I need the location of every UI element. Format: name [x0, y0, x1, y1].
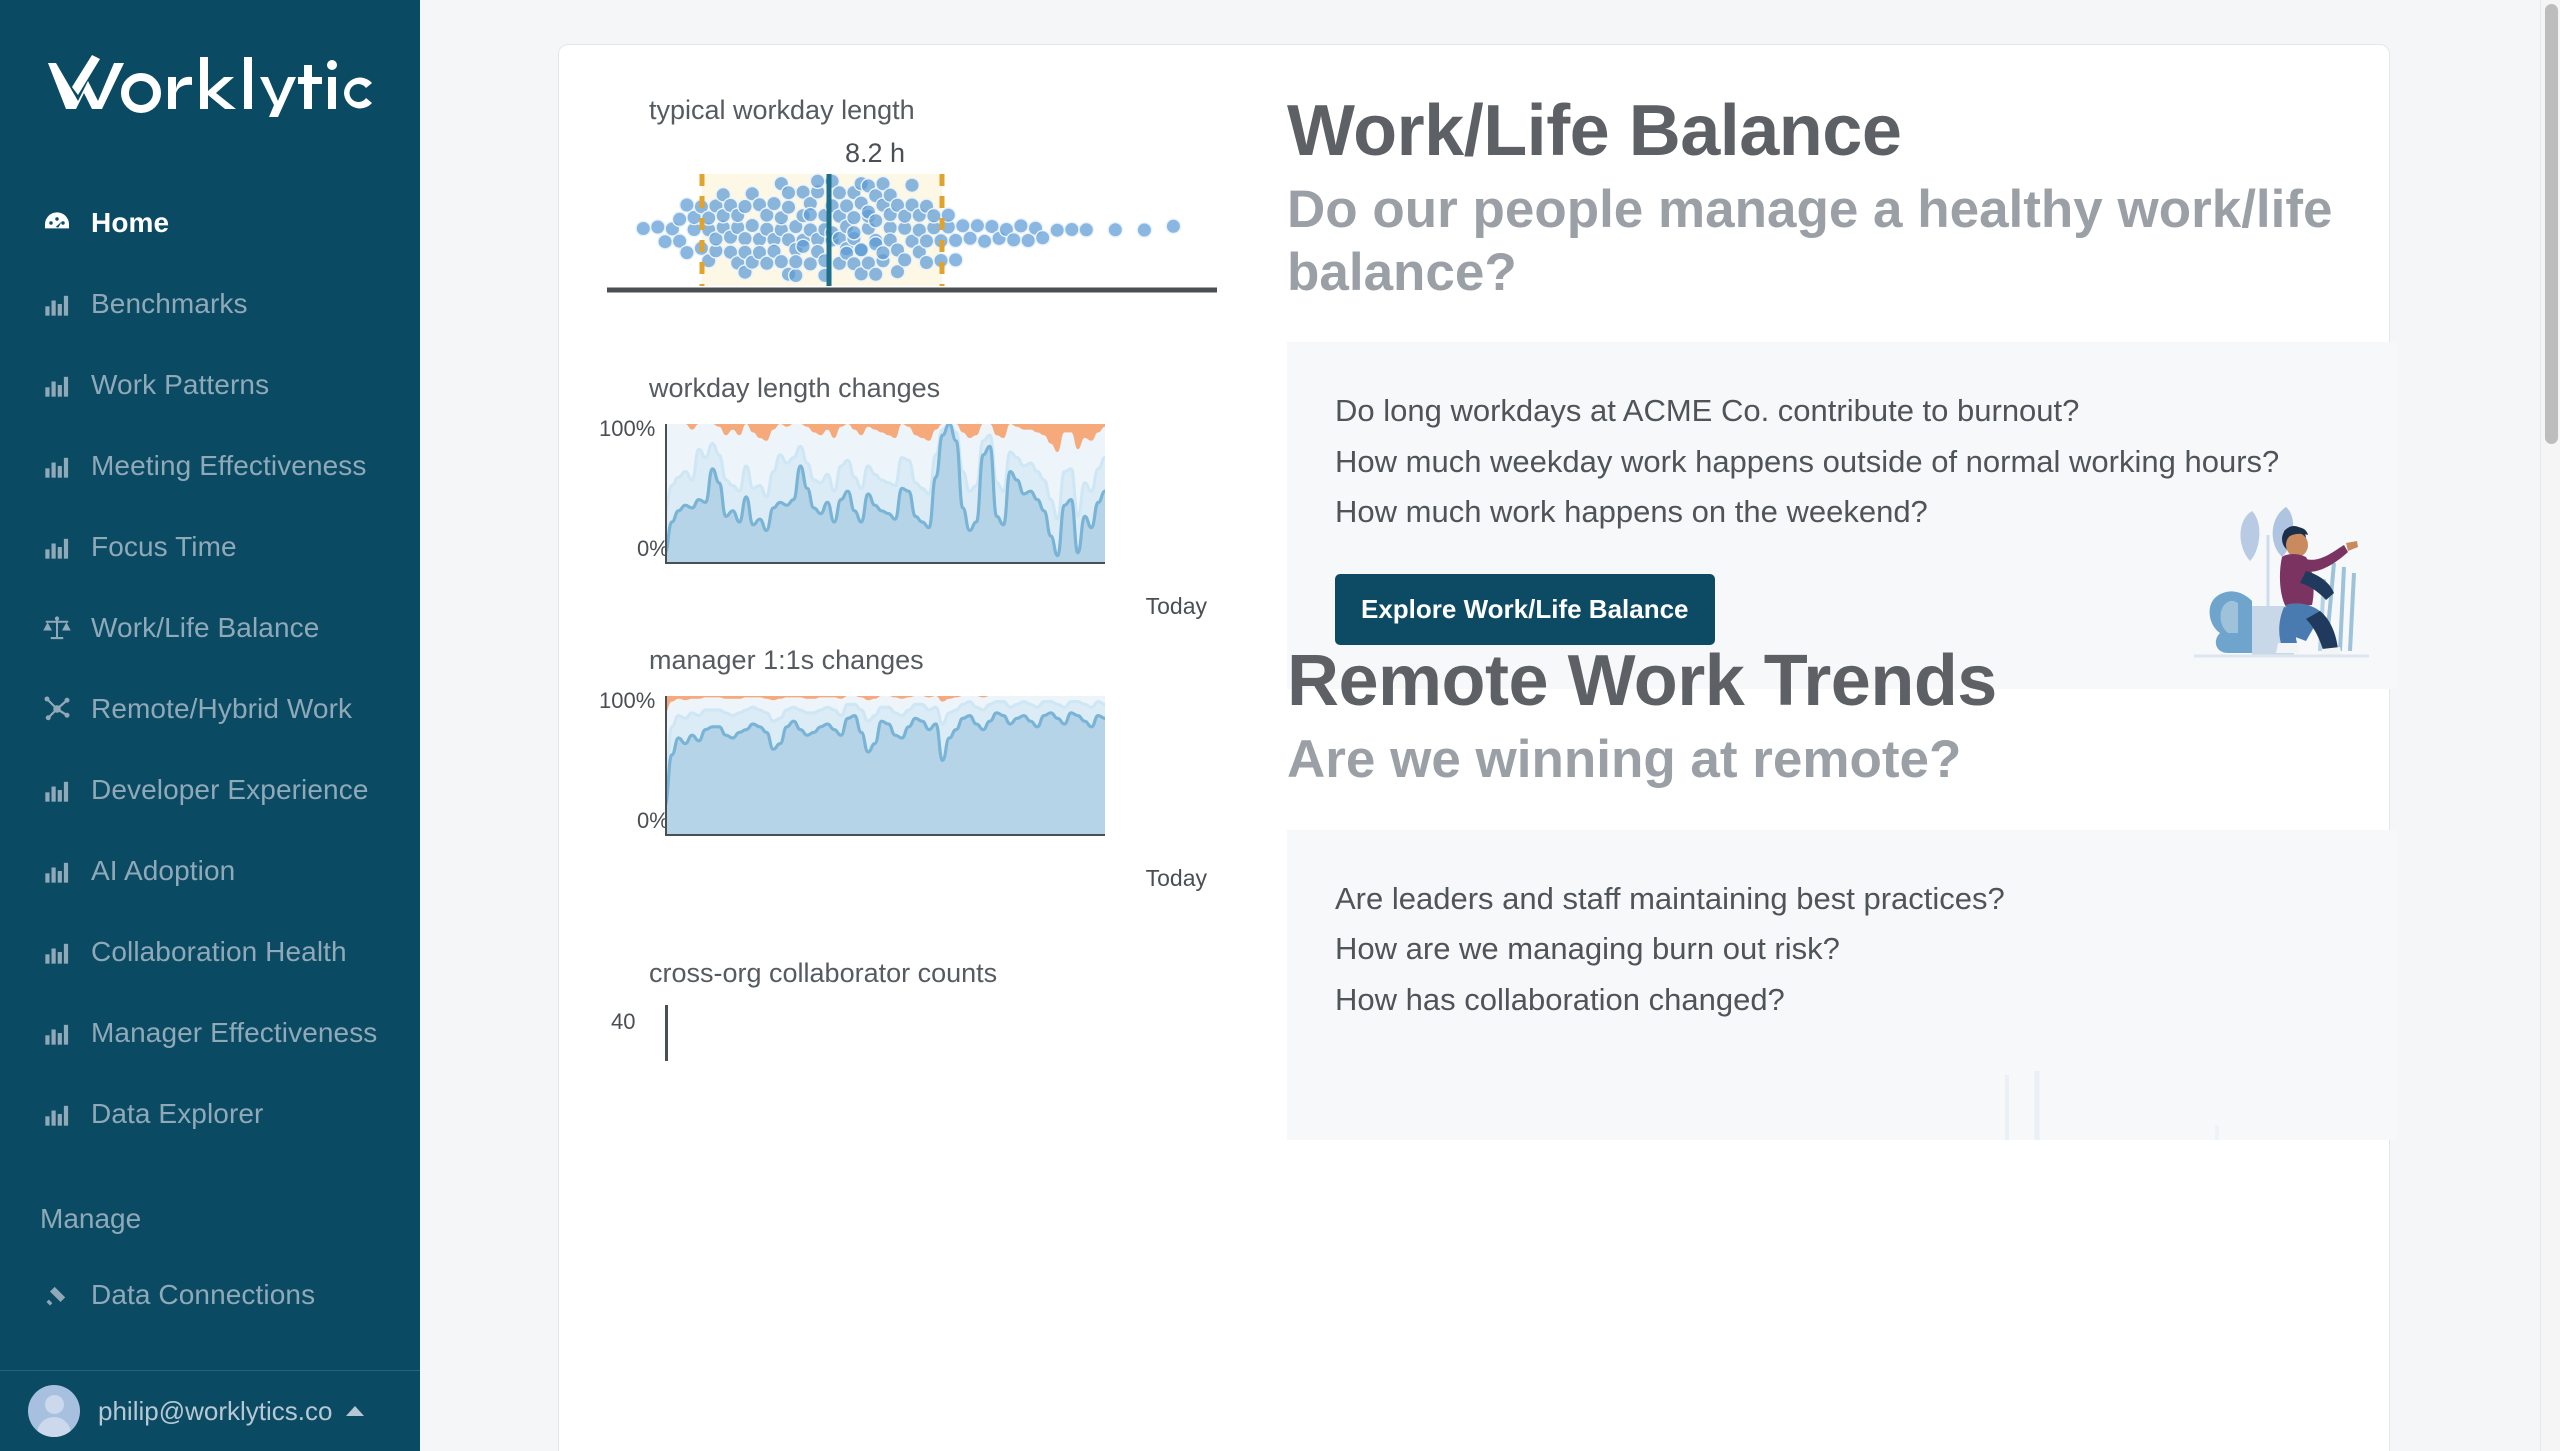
section-2-visuals: manager 1:1s changes 100% 0% Today cross… [559, 645, 1259, 1140]
sidebar-item-label: Work/Life Balance [91, 612, 319, 644]
sidebar-item-meeting-effectiveness[interactable]: Meeting Effectiveness [0, 425, 420, 506]
question-line: Do long workdays at ACME Co. contribute … [1335, 386, 2349, 437]
bar-chart-icon [40, 935, 74, 969]
sidebar-item-label: Data Explorer [91, 1098, 264, 1130]
bar-chart-icon [40, 530, 74, 564]
chart-typical-workday-length[interactable]: typical workday length 8.2 h [607, 95, 1259, 303]
chart-cross-org-collaborator-counts[interactable]: cross-org collaborator counts 40 [607, 958, 1259, 1061]
sidebar-item-label: Home [91, 207, 169, 239]
sidebar-item-ai-adoption[interactable]: AI Adoption [0, 830, 420, 911]
caret-up-icon [346, 1406, 364, 1416]
user-account-menu[interactable]: philip@worklytics.co [0, 1370, 420, 1451]
x-axis-right-label: Today [1146, 593, 1207, 620]
chart-title: workday length changes [649, 373, 1259, 404]
scales-balance-icon [40, 611, 74, 645]
brand-logo[interactable] [0, 0, 420, 150]
sidebar-item-label: Collaboration Health [91, 936, 347, 968]
page-title: Work/Life Balance [1287, 95, 2397, 167]
sidebar-item-benchmarks[interactable]: Benchmarks [0, 263, 420, 344]
bar-chart-icon [40, 1016, 74, 1050]
bar-chart-icon [40, 1097, 74, 1131]
sidebar-item-data-connections[interactable]: Data Connections [0, 1254, 420, 1335]
chart-workday-length-changes[interactable]: workday length changes 100% 0% Today [607, 373, 1259, 586]
section-1-visuals: typical workday length 8.2 h [559, 95, 1259, 689]
sidebar-nav: Home Benchmarks Work P [0, 150, 420, 1335]
section-2-text: Remote Work Trends Are we winning at rem… [1259, 645, 2479, 1140]
chart-annotation-median: 8.2 h [845, 138, 905, 169]
x-axis-right-label: Today [1146, 865, 1207, 892]
y-axis-top-label: 40 [611, 1009, 635, 1035]
page-subtitle: Are we winning at remote? [1287, 729, 2397, 792]
sidebar-item-label: Manager Effectiveness [91, 1017, 377, 1049]
main-content: typical workday length 8.2 h [420, 0, 2560, 1451]
chart-title: manager 1:1s changes [649, 645, 1259, 676]
sidebar-item-label: Focus Time [91, 531, 237, 563]
sidebar-item-manager-effectiveness[interactable]: Manager Effectiveness [0, 992, 420, 1073]
chart-title: cross-org collaborator counts [649, 958, 1259, 989]
section-1-text: Work/Life Balance Do our people manage a… [1259, 95, 2479, 689]
sidebar-item-label: Work Patterns [91, 369, 269, 401]
faint-plants-illustration [1977, 1065, 2277, 1140]
sidebar-item-label: Benchmarks [91, 288, 248, 320]
app-root: Home Benchmarks Work P [0, 0, 2560, 1451]
sidebar-item-developer-experience[interactable]: Developer Experience [0, 749, 420, 830]
explore-work-life-balance-button[interactable]: Explore Work/Life Balance [1335, 574, 1715, 645]
page-title: Remote Work Trends [1287, 645, 2397, 717]
question-card: Are leaders and staff maintaining best p… [1287, 830, 2397, 1140]
section-remote-work-trends: manager 1:1s changes 100% 0% Today cross… [559, 645, 2391, 1140]
bar-chart-icon [40, 449, 74, 483]
sidebar-item-work-patterns[interactable]: Work Patterns [0, 344, 420, 425]
y-axis-line [665, 1005, 668, 1061]
page-subtitle: Do our people manage a healthy work/life… [1287, 179, 2397, 304]
question-line: How are we managing burn out risk? [1335, 924, 2349, 975]
dashboard-card: typical workday length 8.2 h [558, 44, 2390, 1451]
question-line: Are leaders and staff maintaining best p… [1335, 874, 2349, 925]
sidebar-section-manage: Manage [0, 1184, 420, 1254]
sidebar-item-label: Data Connections [91, 1279, 315, 1311]
chart-manager-1-1s-changes[interactable]: manager 1:1s changes 100% 0% Today [607, 645, 1259, 858]
sidebar: Home Benchmarks Work P [0, 0, 420, 1451]
y-axis-top-label: 100% [599, 688, 655, 714]
scrollbar-thumb[interactable] [2545, 4, 2558, 444]
question-line: How much weekday work happens outside of… [1335, 437, 2349, 488]
avatar [28, 1385, 80, 1437]
sidebar-item-collaboration-health[interactable]: Collaboration Health [0, 911, 420, 992]
sidebar-item-label: Meeting Effectiveness [91, 450, 367, 482]
question-line: How has collaboration changed? [1335, 975, 2349, 1026]
sidebar-item-remote-hybrid-work[interactable]: Remote/Hybrid Work [0, 668, 420, 749]
sidebar-item-work-life-balance[interactable]: Work/Life Balance [0, 587, 420, 668]
bar-chart-icon [40, 287, 74, 321]
bar-chart-icon [40, 854, 74, 888]
sidebar-item-home[interactable]: Home [0, 182, 420, 263]
vertical-scrollbar[interactable] [2540, 0, 2560, 1451]
plug-connection-icon [40, 1278, 74, 1312]
sidebar-item-data-explorer[interactable]: Data Explorer [0, 1073, 420, 1154]
dashboard-gauge-icon [40, 206, 74, 240]
network-nodes-icon [40, 692, 74, 726]
sidebar-item-label: AI Adoption [91, 855, 235, 887]
section-work-life-balance: typical workday length 8.2 h [559, 95, 2391, 689]
sidebar-item-label: Remote/Hybrid Work [91, 693, 352, 725]
bar-chart-icon [40, 368, 74, 402]
sidebar-item-focus-time[interactable]: Focus Time [0, 506, 420, 587]
chart-title: typical workday length [649, 95, 1259, 126]
sidebar-item-label: Developer Experience [91, 774, 369, 806]
user-email: philip@worklytics.co [98, 1396, 332, 1427]
y-axis-top-label: 100% [599, 416, 655, 442]
question-card: Do long workdays at ACME Co. contribute … [1287, 342, 2397, 689]
bar-chart-icon [40, 773, 74, 807]
